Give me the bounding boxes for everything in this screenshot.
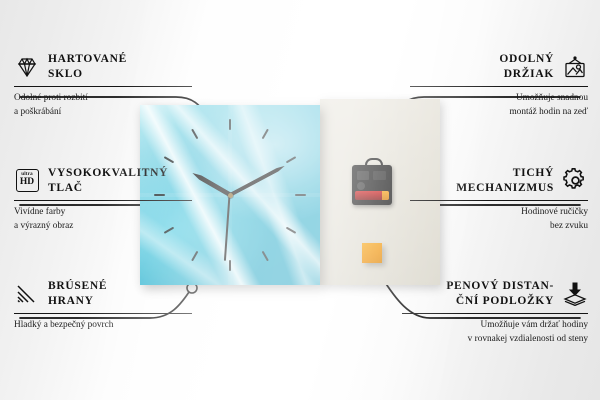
ultra-hd-bottom-label: HD: [17, 178, 38, 188]
mechanism-detail: [357, 171, 369, 180]
divider: [14, 86, 192, 87]
mechanism-detail: [373, 171, 386, 180]
feature-description: Umožňuje vám držať hodiny v rovnakej vzd…: [402, 319, 588, 346]
clock-center-cap: [228, 193, 233, 198]
feature-header: ODOLNÝ DRŽIAK: [410, 52, 588, 81]
feature-header: BRÚSENÉ HRANY: [14, 279, 192, 308]
clock-tick: [229, 260, 231, 271]
diamond-icon: [14, 54, 40, 80]
clock-tick: [295, 194, 306, 196]
feature-description: Hladký a bezpečný povrch: [14, 319, 192, 332]
feature-title: HARTOVANÉ SKLO: [48, 52, 127, 81]
infographic-canvas: HARTOVANÉ SKLO Odolné proti rozbití a po…: [0, 0, 600, 400]
feature-description: Umožňuje snadnou montáž hodin na zeď: [410, 92, 588, 119]
picture-hanger-icon: [562, 54, 588, 80]
ground-edges-icon: [14, 281, 40, 307]
foam-spacer-pad: [362, 243, 382, 263]
feature-ground-edges: BRÚSENÉ HRANY Hladký a bezpečný povrch: [14, 279, 192, 333]
feature-high-quality-print: ultra HD VYSOKOKVALITNÝ TLAČ Vivídne far…: [14, 166, 192, 233]
feature-description: Vivídne farby a výrazný obraz: [14, 206, 192, 233]
clock-tick: [229, 119, 231, 130]
gear-icon: [562, 168, 588, 194]
divider: [410, 200, 588, 201]
feature-silent-mechanism: TICHÝ MECHANIZMUS Hodinové ručičky bez z…: [410, 166, 588, 233]
divider: [410, 86, 588, 87]
feature-header: ultra HD VYSOKOKVALITNÝ TLAČ: [14, 166, 192, 195]
battery: [355, 191, 389, 200]
feature-header: PENOVÝ DISTAN- ČNÍ PODLOŽKY: [402, 279, 588, 308]
feature-tempered-glass: HARTOVANÉ SKLO Odolné proti rozbití a po…: [14, 52, 192, 119]
feature-title: BRÚSENÉ HRANY: [48, 279, 107, 308]
clock-mechanism: [352, 165, 392, 205]
feature-description: Hodinové ručičky bez zvuku: [410, 206, 588, 233]
feature-title: PENOVÝ DISTAN- ČNÍ PODLOŽKY: [446, 279, 554, 308]
feature-header: TICHÝ MECHANIZMUS: [410, 166, 588, 195]
feature-title: VYSOKOKVALITNÝ TLAČ: [48, 166, 168, 195]
feature-foam-spacers: PENOVÝ DISTAN- ČNÍ PODLOŽKY Umožňuje vám…: [402, 279, 588, 346]
divider: [14, 200, 192, 201]
divider: [14, 313, 192, 314]
ultra-hd-icon: ultra HD: [14, 168, 40, 194]
feature-title: ODOLNÝ DRŽIAK: [499, 52, 554, 81]
feature-title: TICHÝ MECHANIZMUS: [456, 166, 554, 195]
mechanism-dial: [357, 182, 365, 190]
foam-pad-press-icon: [562, 281, 588, 307]
feature-description: Odolné proti rozbití a poškrábání: [14, 92, 192, 119]
feature-header: HARTOVANÉ SKLO: [14, 52, 192, 81]
divider: [402, 313, 588, 314]
feature-durable-hanger: ODOLNÝ DRŽIAK Umožňuje snadnou montáž ho…: [410, 52, 588, 119]
